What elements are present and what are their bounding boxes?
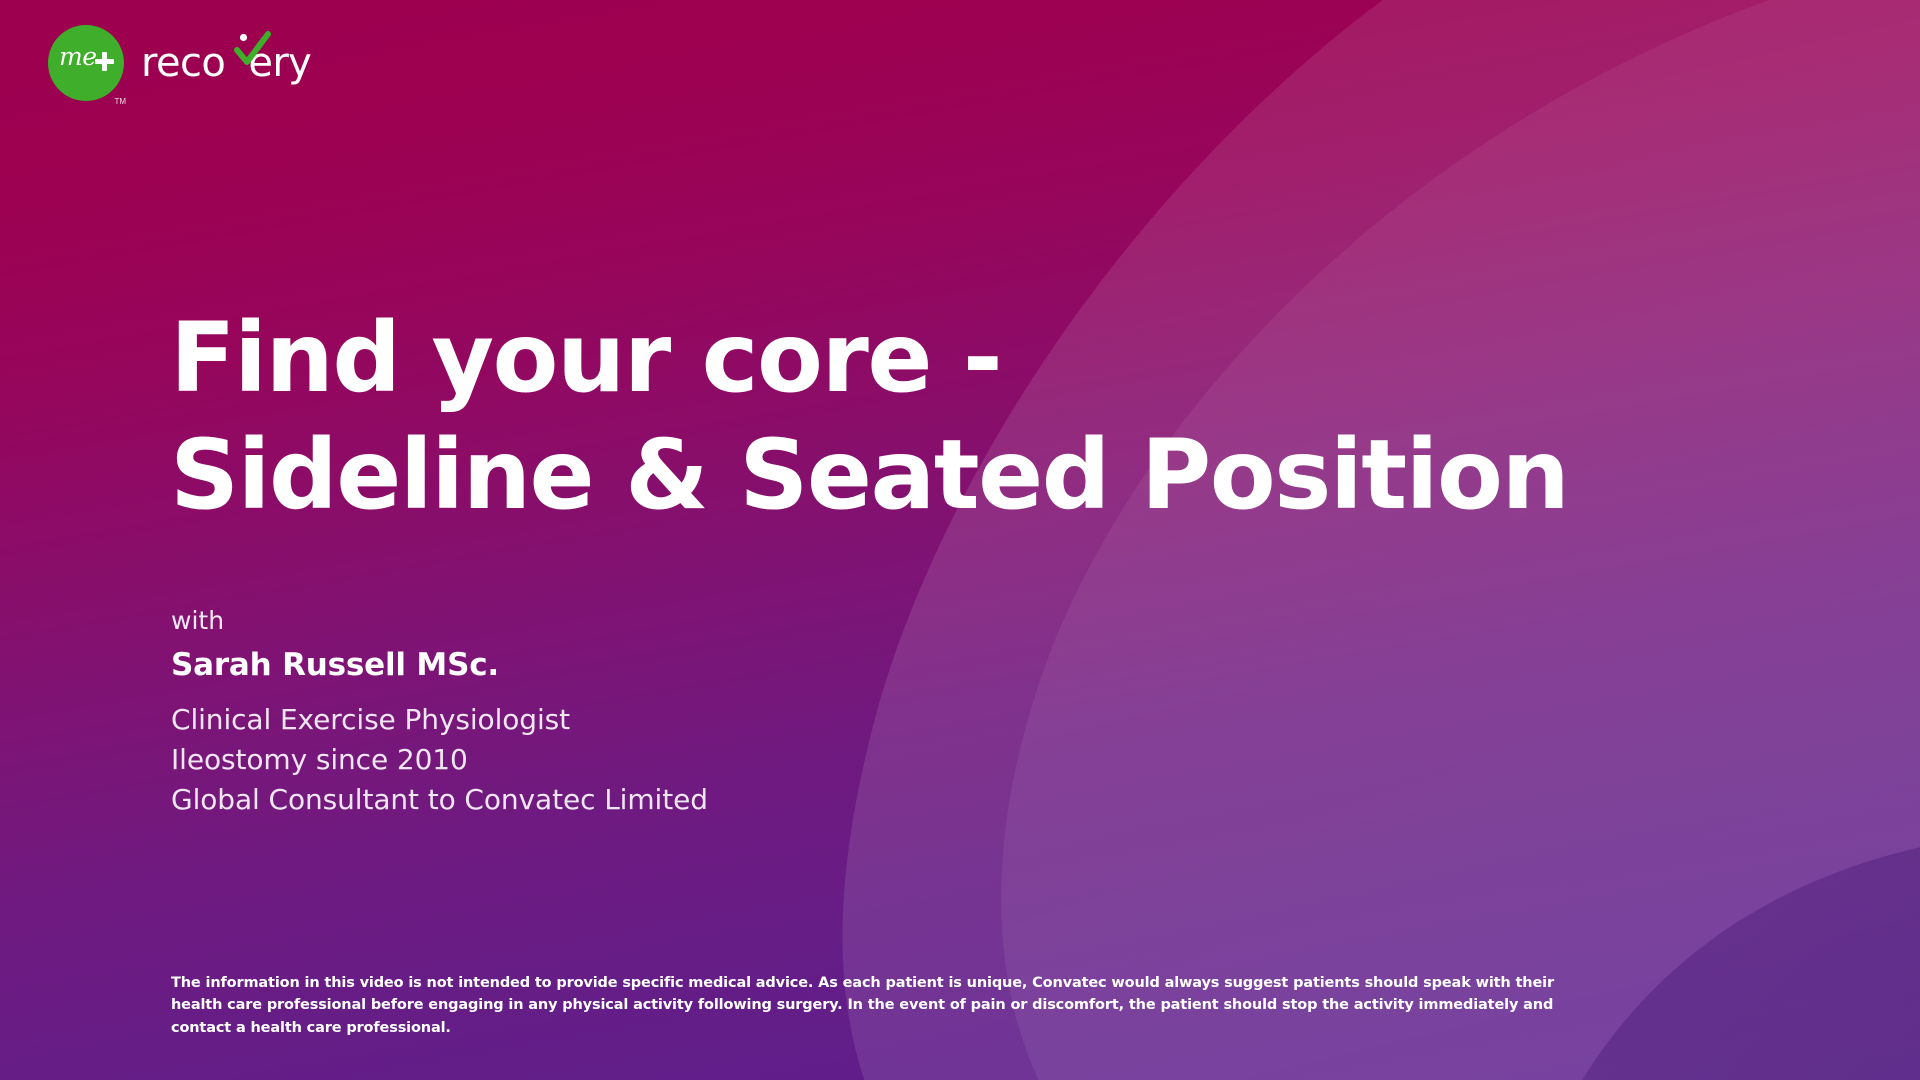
- logo-word-prefix: reco: [141, 40, 225, 86]
- speaker-credential-3: Global Consultant to Convatec Limited: [171, 780, 708, 820]
- title-line-2: Sideline & Seated Position: [170, 417, 1510, 534]
- speaker-credential-2: Ileostomy since 2010: [171, 740, 708, 780]
- check-icon: [232, 30, 272, 70]
- medical-disclaimer: The information in this video is not int…: [171, 972, 1591, 1039]
- presentation-slide: me TM recovery Find your core - Sideline…: [0, 0, 1920, 1080]
- logo-me-text: me: [59, 44, 97, 69]
- speaker-with-label: with: [171, 608, 708, 633]
- decorative-curve-large: [843, 0, 1920, 1080]
- logo-mark: me TM: [48, 25, 124, 101]
- background-decoration: [0, 0, 1920, 1080]
- trademark-symbol: TM: [114, 97, 126, 106]
- decorative-curve-corner: [1560, 835, 1920, 1080]
- logo-wordmark: recovery: [141, 43, 311, 83]
- decorative-curve-inner: [1001, 0, 1920, 1080]
- brand-logo: me TM recovery: [48, 26, 311, 100]
- speaker-credential-1: Clinical Exercise Physiologist: [171, 700, 708, 740]
- speaker-name: Sarah Russell MSc.: [171, 650, 708, 681]
- speaker-block: with Sarah Russell MSc. Clinical Exercis…: [171, 608, 708, 819]
- title-line-1: Find your core -: [170, 300, 1510, 417]
- page-title: Find your core - Sideline & Seated Posit…: [170, 300, 1510, 534]
- plus-icon: [95, 52, 114, 71]
